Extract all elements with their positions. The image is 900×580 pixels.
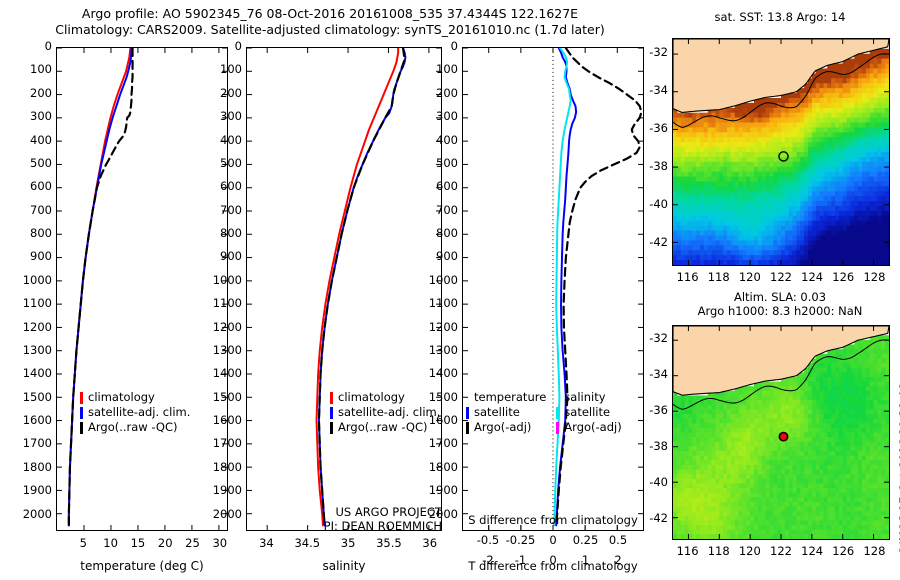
project-credit: US ARGO PROJECT PI: DEAN ROEMMICH xyxy=(250,505,442,533)
temperature-xlabel: temperature (deg C) xyxy=(56,559,228,573)
legend-label-sal-satellite: satellite xyxy=(564,405,610,420)
legend-label-climatology: climatology xyxy=(338,390,405,405)
title-line-1: Argo profile: AO 5902345_76 08-Oct-2016 … xyxy=(0,6,660,22)
legend-swatch-climatology xyxy=(330,392,333,404)
y-tick-2000: 2000 xyxy=(200,509,242,521)
difference-legend: temperature satellite Argo(-adj) salinit… xyxy=(466,390,622,435)
y-tick-1100: 1100 xyxy=(416,298,458,310)
y-tick-900: 900 xyxy=(200,251,242,263)
map-y-tick--38: -38 xyxy=(638,441,668,453)
map-x-tick-128: 128 xyxy=(857,272,891,284)
y-tick-700: 700 xyxy=(10,205,52,217)
legend-label-argo: Argo(..raw -QC) xyxy=(338,420,428,435)
sst-map-plot xyxy=(673,39,889,265)
legend-swatch-sal-satellite xyxy=(556,407,559,419)
y-tick-1200: 1200 xyxy=(416,322,458,334)
y-tick-1500: 1500 xyxy=(200,392,242,404)
y-tick-1500: 1500 xyxy=(416,392,458,404)
y-tick-1500: 1500 xyxy=(10,392,52,404)
y-tick-200: 200 xyxy=(10,88,52,100)
y-tick-1700: 1700 xyxy=(416,438,458,450)
sla-map-title: Altim. SLA: 0.03 Argo h1000: 8.3 h2000: … xyxy=(665,290,895,318)
legend-item-temp-satellite: satellite xyxy=(466,405,546,420)
y-tick-1000: 1000 xyxy=(200,275,242,287)
map-x-tick-116: 116 xyxy=(671,272,705,284)
difference-xlabel-top: S difference from climatology xyxy=(452,513,654,527)
y-tick-1400: 1400 xyxy=(10,368,52,380)
map-y-tick--32: -32 xyxy=(638,333,668,345)
legend-item-sal-argo-adj: Argo(-adj) xyxy=(556,420,621,435)
legend-swatch-satellite-adj xyxy=(330,407,333,419)
legend-swatch-argo xyxy=(330,422,333,434)
title-line-2: Climatology: CARS2009. Satellite-adjuste… xyxy=(0,22,660,38)
y-tick-1200: 1200 xyxy=(10,322,52,334)
y-tick-1600: 1600 xyxy=(10,415,52,427)
y-tick-100: 100 xyxy=(416,64,458,76)
difference-legend-temperature-column: temperature satellite Argo(-adj) xyxy=(466,390,546,435)
legend-item-sal-satellite: satellite xyxy=(556,405,621,420)
map-x-tick-120: 120 xyxy=(733,272,767,284)
y-tick-1600: 1600 xyxy=(416,415,458,427)
legend-swatch-temp-satellite xyxy=(466,407,469,419)
map-x-tick-116: 116 xyxy=(671,546,705,558)
legend-label-satellite-adj: satellite-adj. clim. xyxy=(88,405,190,420)
legend-item-satellite-adj: satellite-adj. clim. xyxy=(80,405,190,420)
sla-title-line-2: Argo h1000: 8.3 h2000: NaN xyxy=(665,304,895,318)
difference-xlabel-bottom: T difference from climatology xyxy=(452,559,654,573)
credit-line-1: US ARGO PROJECT xyxy=(250,505,442,519)
y-tick-2000: 2000 xyxy=(10,509,52,521)
salinity-xlabel: salinity xyxy=(246,559,442,573)
page-title: Argo profile: AO 5902345_76 08-Oct-2016 … xyxy=(0,6,660,38)
y-tick-1100: 1100 xyxy=(200,298,242,310)
legend-item-temp-argo-adj: Argo(-adj) xyxy=(466,420,546,435)
credit-line-2: PI: DEAN ROEMMICH xyxy=(250,519,442,533)
map-x-tick-122: 122 xyxy=(764,272,798,284)
y-tick-1700: 1700 xyxy=(200,438,242,450)
legend-label-climatology: climatology xyxy=(88,390,155,405)
y-tick-300: 300 xyxy=(416,111,458,123)
map-y-tick--36: -36 xyxy=(638,405,668,417)
legend-label-sal-argo-adj: Argo(-adj) xyxy=(564,420,621,435)
map-x-tick-124: 124 xyxy=(795,272,829,284)
y-tick-1800: 1800 xyxy=(200,462,242,474)
y-tick-1400: 1400 xyxy=(200,368,242,380)
y-tick-400: 400 xyxy=(416,135,458,147)
x-tick-36: 36 xyxy=(405,538,455,550)
temperature-legend: climatology satellite-adj. clim. Argo(..… xyxy=(80,390,190,435)
y-tick-100: 100 xyxy=(10,64,52,76)
series-climatology xyxy=(69,48,131,525)
legend-label-temp-argo-adj: Argo(-adj) xyxy=(474,420,531,435)
series-climatology xyxy=(317,48,399,525)
y-tick-800: 800 xyxy=(200,228,242,240)
map-x-tick-128: 128 xyxy=(857,546,891,558)
map-y-tick--38: -38 xyxy=(638,161,668,173)
series-satellite-adj-clim- xyxy=(69,48,132,525)
argo-profile-figure: Argo profile: AO 5902345_76 08-Oct-2016 … xyxy=(0,0,900,580)
y-tick-300: 300 xyxy=(200,111,242,123)
sst-map-title: sat. SST: 13.8 Argo: 14 xyxy=(665,10,895,24)
y-tick-1800: 1800 xyxy=(10,462,52,474)
map-y-tick--42: -42 xyxy=(638,237,668,249)
y-tick-1900: 1900 xyxy=(10,485,52,497)
y-tick-700: 700 xyxy=(416,205,458,217)
y-tick-600: 600 xyxy=(10,181,52,193)
salinity-profile-plot xyxy=(247,48,441,530)
legend-header-salinity: salinity xyxy=(556,390,621,405)
y-tick-400: 400 xyxy=(200,135,242,147)
map-x-tick-118: 118 xyxy=(702,546,736,558)
y-tick-500: 500 xyxy=(10,158,52,170)
y-tick-1900: 1900 xyxy=(200,485,242,497)
salinity-profile-panel xyxy=(246,47,442,531)
y-tick-1100: 1100 xyxy=(10,298,52,310)
series-temperature-argo-adj- xyxy=(556,48,641,525)
y-tick-600: 600 xyxy=(200,181,242,193)
legend-item-climatology: climatology xyxy=(80,390,190,405)
y-tick-1700: 1700 xyxy=(10,438,52,450)
y-tick-800: 800 xyxy=(416,228,458,240)
map-x-tick-122: 122 xyxy=(764,546,798,558)
y-tick-0: 0 xyxy=(200,41,242,53)
difference-profile-panel xyxy=(462,47,644,531)
y-tick-1300: 1300 xyxy=(10,345,52,357)
map-y-tick--34: -34 xyxy=(638,85,668,97)
sst-map-panel xyxy=(672,38,890,266)
legend-swatch-temp-argo-adj xyxy=(466,422,469,434)
y-tick-500: 500 xyxy=(416,158,458,170)
y-tick-800: 800 xyxy=(10,228,52,240)
difference-legend-salinity-column: salinity satellite Argo(-adj) xyxy=(556,390,621,435)
series-argo-raw-qc- xyxy=(319,48,405,525)
map-x-tick-126: 126 xyxy=(826,272,860,284)
y-tick-1800: 1800 xyxy=(416,462,458,474)
map-y-tick--36: -36 xyxy=(638,123,668,135)
map-y-tick--32: -32 xyxy=(638,47,668,59)
y-tick-700: 700 xyxy=(200,205,242,217)
legend-swatch-climatology xyxy=(80,392,83,404)
legend-label-temp-satellite: satellite xyxy=(474,405,520,420)
profile-marker xyxy=(780,433,787,440)
map-x-tick-118: 118 xyxy=(702,272,736,284)
y-tick-1600: 1600 xyxy=(200,415,242,427)
y-tick-1400: 1400 xyxy=(416,368,458,380)
y-tick-1200: 1200 xyxy=(200,322,242,334)
map-y-tick--42: -42 xyxy=(638,513,668,525)
x-tick-top-0.5: 0.5 xyxy=(593,535,643,547)
y-tick-100: 100 xyxy=(200,64,242,76)
legend-item-argo: Argo(..raw -QC) xyxy=(80,420,190,435)
x-tick-30: 30 xyxy=(195,538,245,550)
legend-swatch-satellite-adj xyxy=(80,407,83,419)
y-tick-1000: 1000 xyxy=(416,275,458,287)
y-tick-400: 400 xyxy=(10,135,52,147)
y-tick-900: 900 xyxy=(416,251,458,263)
sla-map-plot xyxy=(673,326,889,539)
legend-label-argo: Argo(..raw -QC) xyxy=(88,420,178,435)
map-x-tick-124: 124 xyxy=(795,546,829,558)
y-tick-600: 600 xyxy=(416,181,458,193)
map-y-tick--34: -34 xyxy=(638,369,668,381)
map-y-tick--40: -40 xyxy=(638,199,668,211)
series-argo-raw-qc- xyxy=(69,48,133,525)
y-tick-1900: 1900 xyxy=(416,485,458,497)
map-x-tick-126: 126 xyxy=(826,546,860,558)
legend-swatch-sal-argo-adj xyxy=(556,422,559,434)
y-tick-500: 500 xyxy=(200,158,242,170)
y-tick-300: 300 xyxy=(10,111,52,123)
sla-map-panel xyxy=(672,325,890,540)
y-tick-900: 900 xyxy=(10,251,52,263)
y-tick-1300: 1300 xyxy=(200,345,242,357)
sla-title-line-1: Altim. SLA: 0.03 xyxy=(665,290,895,304)
y-tick-1000: 1000 xyxy=(10,275,52,287)
difference-profile-plot xyxy=(463,48,643,530)
legend-header-temperature: temperature xyxy=(466,390,546,405)
y-tick-1300: 1300 xyxy=(416,345,458,357)
map-x-tick-120: 120 xyxy=(733,546,767,558)
y-tick-0: 0 xyxy=(416,41,458,53)
map-y-tick--40: -40 xyxy=(638,477,668,489)
y-tick-200: 200 xyxy=(200,88,242,100)
y-tick-200: 200 xyxy=(416,88,458,100)
legend-swatch-argo xyxy=(80,422,83,434)
y-tick-0: 0 xyxy=(10,41,52,53)
